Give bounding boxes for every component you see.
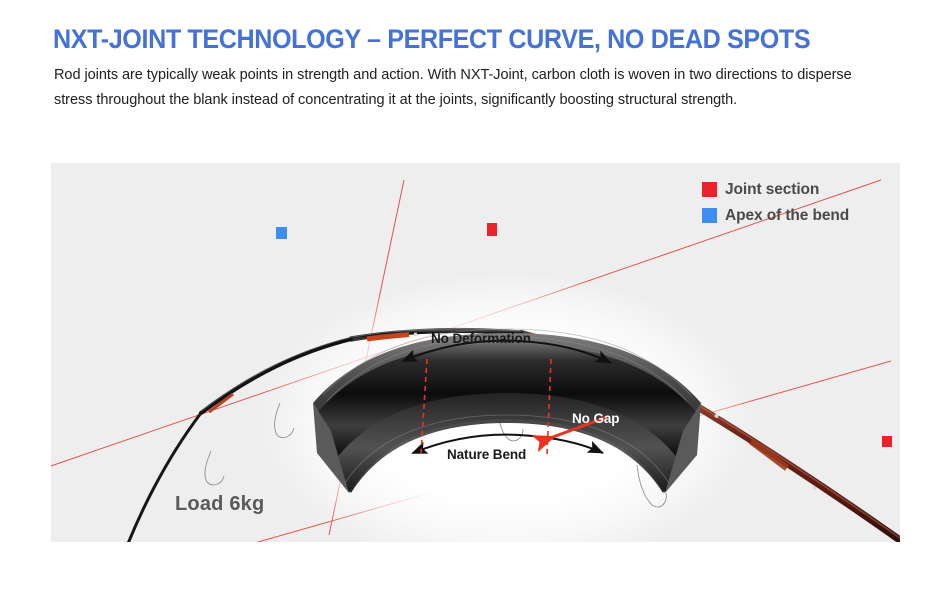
legend-swatch-blue-icon [702,208,717,223]
apex-of-bend-marker [276,227,287,239]
label-nature-bend: Nature Bend [447,447,526,462]
load-label: Load 6kg [175,493,264,516]
label-no-deformation: No Deformation [431,331,531,346]
legend-swatch-red-icon [702,182,717,197]
label-no-gap: No Gap [572,411,619,426]
legend-label-joint-section: Joint section [725,181,819,199]
illustration-panel: No Deformation Nature Bend No Gap Load 6… [51,163,900,542]
joint-section-marker-1 [487,223,497,236]
page-description: Rod joints are typically weak points in … [54,62,856,112]
legend: Joint section Apex of the bend [702,178,900,230]
rod-tip-section-lower [117,413,201,542]
joint-section-marker-2 [882,436,892,447]
joint-wrap-5 [751,441,787,468]
legend-item-joint-section: Joint section [702,178,900,201]
page-title: NXT-JOINT TECHNOLOGY – PERFECT CURVE, NO… [53,24,810,55]
legend-label-apex-of-bend: Apex of the bend [725,207,849,225]
legend-item-apex-of-bend: Apex of the bend [702,204,900,227]
